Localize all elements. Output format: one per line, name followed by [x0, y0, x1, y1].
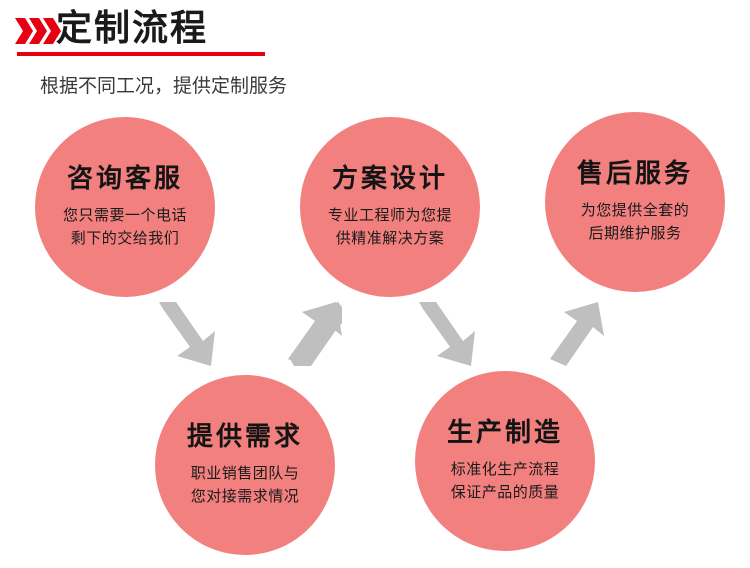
flow-step-2-desc-line1: 专业工程师为您提 [328, 205, 452, 228]
flow-step-3-title: 售后服务 [577, 158, 693, 190]
flow-step-1-title: 咨询客服 [67, 163, 183, 195]
flow-step-3[interactable]: 售后服务 为您提供全套的 后期维护服务 [545, 112, 725, 292]
arrow-step5-to-step3 [540, 300, 604, 373]
flow-step-1[interactable]: 咨询客服 您只需要一个电话 剩下的交给我们 [35, 117, 215, 297]
arrow-step4-to-step2 [278, 300, 342, 373]
flow-step-4-title: 提供需求 [187, 421, 303, 453]
arrow-step1-to-step4 [155, 300, 219, 373]
flow-step-4-desc-line1: 职业销售团队与 [191, 463, 300, 486]
page-title: 定制流程 [56, 5, 208, 51]
flow-step-2-desc-line2: 供精准解决方案 [336, 228, 445, 251]
process-flow-diagram: 咨询客服 您只需要一个电话 剩下的交给我们 方案设计 专业工程师为您提 供精准解… [0, 108, 750, 568]
page-subtitle: 根据不同工况，提供定制服务 [40, 74, 287, 100]
flow-step-3-desc-line1: 为您提供全套的 [581, 200, 690, 223]
page-header: 定制流程 根据不同工况，提供定制服务 [0, 0, 750, 108]
arrow-step2-to-step5 [415, 300, 479, 373]
flow-step-5-desc-line1: 标准化生产流程 [451, 459, 560, 482]
flow-step-4[interactable]: 提供需求 职业销售团队与 您对接需求情况 [155, 375, 335, 555]
flow-step-2-title: 方案设计 [332, 163, 448, 195]
flow-step-4-desc-line2: 您对接需求情况 [191, 486, 300, 509]
flow-step-1-desc-line1: 您只需要一个电话 [63, 205, 187, 228]
flow-step-1-desc-line2: 剩下的交给我们 [71, 228, 180, 251]
flow-step-5-desc-line2: 保证产品的质量 [451, 482, 560, 505]
flow-step-5-title: 生产制造 [447, 417, 563, 449]
flow-step-5[interactable]: 生产制造 标准化生产流程 保证产品的质量 [415, 371, 595, 551]
title-underline-rule [17, 52, 265, 56]
flow-step-2[interactable]: 方案设计 专业工程师为您提 供精准解决方案 [300, 117, 480, 297]
flow-step-3-desc-line2: 后期维护服务 [588, 223, 681, 246]
